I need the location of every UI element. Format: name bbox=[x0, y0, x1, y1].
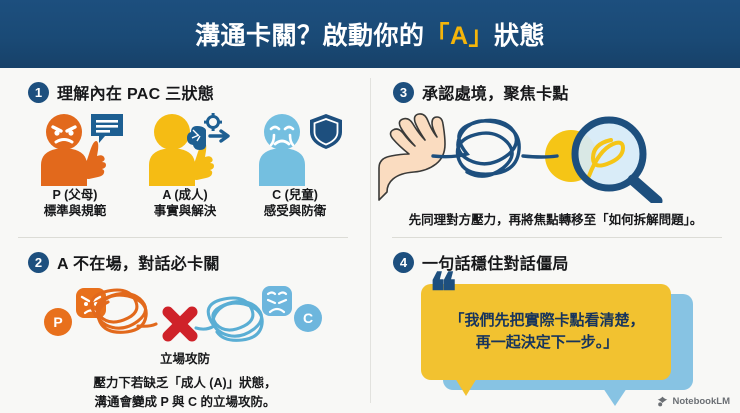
header-band: 溝通卡關？啟動你的「A」狀態 bbox=[0, 0, 740, 68]
quote-line-2: 再一起決定下一步。」 bbox=[429, 332, 665, 354]
panel-2-body-line-1: 壓力下若缺乏「成人 (A)」狀態， bbox=[0, 374, 370, 393]
shield-icon bbox=[310, 114, 342, 149]
child-figure-label: C (兒童) bbox=[243, 188, 348, 204]
blue-tangle-scribble bbox=[433, 120, 557, 176]
blue-tangle-scribble bbox=[196, 298, 262, 340]
conflict-scribble-graphic: P bbox=[0, 276, 370, 358]
notebooklm-watermark: NotebookLM bbox=[657, 396, 730, 407]
svg-text:C: C bbox=[303, 310, 313, 326]
panel-acknowledge-focus: 3 承認處境，聚焦卡點 bbox=[371, 68, 740, 237]
panel-2-body: 壓力下若缺乏「成人 (A)」狀態， 溝通會變成 P 與 C 的立場攻防。 bbox=[0, 374, 370, 412]
svg-text:P: P bbox=[53, 314, 62, 330]
panel-1-number-badge: 1 bbox=[28, 82, 49, 103]
panel-2-heading: 2 A 不在場，對話必卡關 bbox=[0, 238, 370, 274]
parent-figure-art bbox=[23, 108, 128, 186]
panel-2-number-badge: 2 bbox=[28, 252, 49, 273]
title-suffix: 狀態 bbox=[494, 22, 545, 50]
panel-2-heading-text: A 不在場，對話必卡關 bbox=[57, 250, 220, 274]
notebooklm-icon bbox=[657, 396, 668, 407]
panel-4-number-badge: 4 bbox=[393, 252, 414, 273]
child-figure-art bbox=[243, 108, 348, 186]
panel-3-heading-text: 承認處境，聚焦卡點 bbox=[422, 80, 569, 104]
pac-figure-child: C (兒童) 感受與防衛 bbox=[243, 108, 348, 219]
title-prefix: 溝通卡關？啟動你的 bbox=[195, 22, 425, 50]
content-grid: 1 理解內在 PAC 三狀態 bbox=[0, 68, 740, 413]
adult-figure-art bbox=[133, 108, 238, 186]
brain-gear-arrow-icon bbox=[187, 113, 228, 150]
page-title: 溝通卡關？啟動你的「A」狀態 bbox=[195, 16, 545, 52]
red-x-icon bbox=[168, 312, 192, 336]
panel-2-body-line-2: 溝通會變成 P 與 C 的立場攻防。 bbox=[0, 393, 370, 412]
sad-face-icon bbox=[262, 286, 292, 316]
parent-person-icon bbox=[23, 108, 127, 186]
panel-3-caption: 先同理對方壓力，再將焦點轉移至「如何拆解問題」。 bbox=[371, 209, 740, 228]
hand-tangle-magnifier-graphic bbox=[371, 108, 740, 203]
panel-1-heading: 1 理解內在 PAC 三狀態 bbox=[0, 68, 370, 104]
panel-3-number-badge: 3 bbox=[393, 82, 414, 103]
pac-figure-parent: P (父母) 標準與規範 bbox=[23, 108, 128, 219]
adult-figure-sub: 事實與解決 bbox=[133, 204, 238, 220]
quote-line-1: 「我們先把實際卡點看清楚， bbox=[429, 310, 665, 332]
panel-1-heading-text: 理解內在 PAC 三狀態 bbox=[57, 80, 214, 104]
parent-figure-label: P (父母) bbox=[23, 188, 128, 204]
infographic-canvas: 溝通卡關？啟動你的「A」狀態 1 理解內在 PAC 三狀態 bbox=[0, 0, 740, 413]
child-figure-sub: 感受與防衛 bbox=[243, 204, 348, 220]
panel-conflict: 2 A 不在場，對話必卡關 P bbox=[0, 238, 370, 413]
pac-figure-adult: A (成人) 事實與解決 bbox=[133, 108, 238, 219]
focus-illustration bbox=[371, 108, 740, 203]
child-person-icon bbox=[243, 108, 347, 186]
conflict-x-label: 立場攻防 bbox=[0, 348, 370, 367]
panel-3-heading: 3 承認處境，聚焦卡點 bbox=[371, 68, 740, 104]
panel-4-heading: 4 一句話穩住對話僵局 bbox=[371, 238, 740, 274]
notebooklm-label: NotebookLM bbox=[672, 396, 730, 407]
parent-figure-sub: 標準與規範 bbox=[23, 204, 128, 220]
panel-quote: 4 一句話穩住對話僵局 ❝ 「我們先把實際卡點看清楚， 再一起決定下一步。」 bbox=[371, 238, 740, 413]
quote-bubble-area: ❝ 「我們先把實際卡點看清楚， 再一起決定下一步。」 bbox=[371, 276, 740, 404]
panel-pac-states: 1 理解內在 PAC 三狀態 bbox=[0, 68, 370, 237]
speech-bubble-icon bbox=[91, 114, 123, 143]
pac-figure-row: P (父母) 標準與規範 bbox=[0, 104, 370, 219]
conflict-illustration: P bbox=[0, 276, 370, 358]
adult-person-icon bbox=[133, 108, 237, 186]
magnifier-icon bbox=[575, 120, 657, 201]
title-highlight: 「A」 bbox=[424, 22, 494, 50]
quote-text: 「我們先把實際卡點看清楚， 再一起決定下一步。」 bbox=[429, 310, 665, 354]
adult-figure-label: A (成人) bbox=[133, 188, 238, 204]
